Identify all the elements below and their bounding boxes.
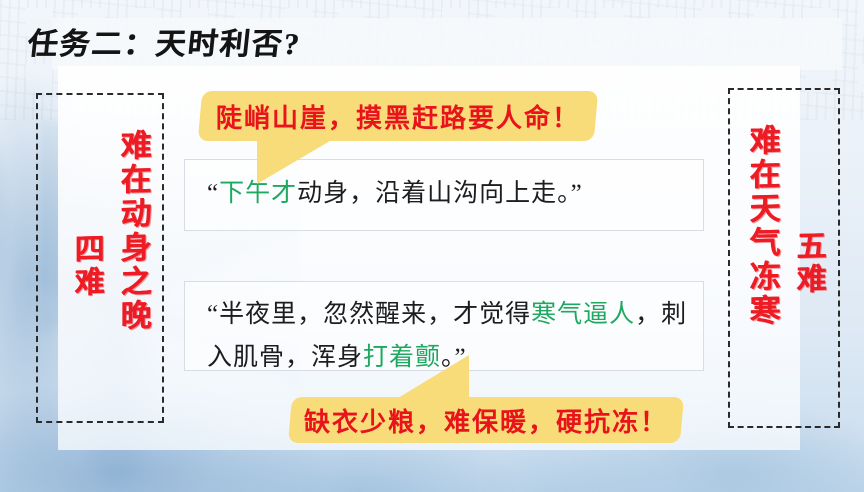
slide-root: 任务二：天时利否? 难在动身之晚 四难 难在天气冻寒 五难 “下午才动身，沿着山…: [0, 0, 864, 492]
highlighted-phrase: 寒气逼人: [531, 301, 635, 328]
left-box-main-label: 难在动身之晚: [111, 128, 156, 333]
left-annotation-box: 难在动身之晚 四难: [36, 93, 164, 423]
callout-2-tail-icon: [393, 355, 469, 401]
plain-phrase: 动身，沿着山沟向上走。”: [297, 180, 583, 207]
page-title: 任务二：天时利否?: [26, 19, 304, 63]
left-box-sub-label: 四难: [64, 232, 108, 299]
callout-1: 陡峭山崖，摸黑赶路要人命！: [198, 91, 598, 141]
callout-1-label: 陡峭山崖，摸黑赶路要人命！: [216, 98, 580, 135]
plain-phrase: “: [207, 180, 219, 207]
callout-1-tail-icon: [257, 138, 335, 184]
quote-text-1: “下午才动身，沿着山沟向上走。”: [207, 180, 583, 207]
right-box-main-label: 难在天气冻寒: [740, 123, 785, 328]
callout-2-label: 缺衣少粮，难保暖，硬抗冻！: [304, 402, 668, 439]
plain-phrase: “半夜里，忽然醒来，才觉得: [207, 301, 531, 328]
right-annotation-box: 难在天气冻寒 五难: [728, 88, 840, 428]
callout-2: 缺衣少粮，难保暖，硬抗冻！: [288, 397, 684, 443]
highlighted-phrase: 下午才: [219, 180, 297, 207]
right-box-sub-label: 五难: [786, 229, 830, 296]
